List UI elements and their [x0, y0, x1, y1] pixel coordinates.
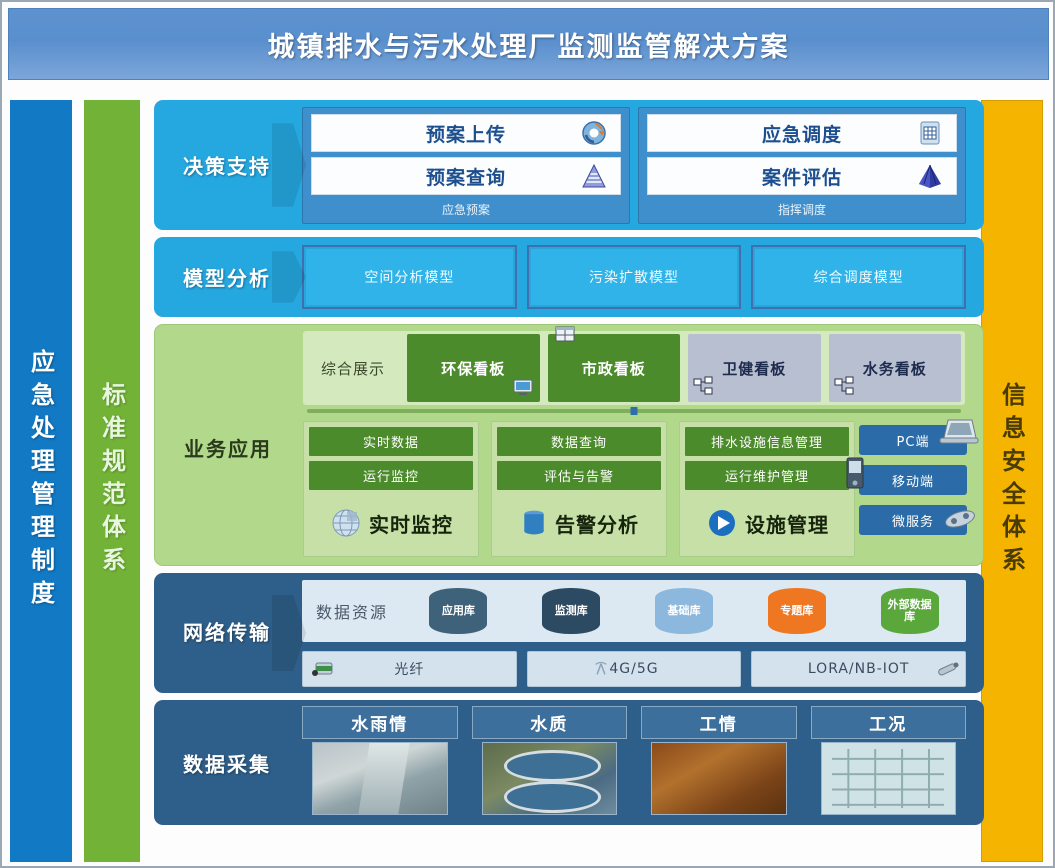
sedimentation-tank-photo [482, 742, 618, 815]
side-column-standards: 标准规范体系 [84, 100, 140, 862]
decision-panel-emergency-plan: 预案上传 预案查询 [302, 107, 630, 224]
scada-diagram-photo [821, 742, 957, 815]
transport-lora-nbiot-label: LORA/NB-IOT [808, 661, 910, 677]
device-mobile[interactable]: 移动端 [859, 465, 967, 495]
model-box-spatial[interactable]: 空间分析模型 [302, 245, 517, 309]
business-big-alarm-analysis[interactable]: 告警分析 [497, 495, 661, 551]
decision-item-plan-query[interactable]: 预案查询 [311, 157, 621, 195]
pipeline-trench-photo [651, 742, 787, 815]
data-card-water-quality[interactable]: 水质 [472, 706, 628, 819]
model-box-pollution-diffusion[interactable]: 污染扩散模型 [527, 245, 742, 309]
business-device-list: PC端 移动端 [859, 425, 967, 535]
layer-decision-support: 决策支持 预案上传 [154, 100, 984, 230]
business-column-alarm: 数据查询 评估与告警 告警分析 [491, 421, 667, 557]
business-chip-evaluation-alarm[interactable]: 评估与告警 [497, 461, 661, 490]
data-card-rainfall[interactable]: 水雨情 [302, 706, 458, 819]
data-card-conditions[interactable]: 工况 [811, 706, 967, 819]
data-card-works[interactable]: 工情 [641, 706, 797, 819]
river-channel-photo [312, 742, 448, 815]
model-box-integrated-dispatch-label: 综合调度模型 [814, 267, 904, 287]
business-chip-operation-monitoring[interactable]: 运行监控 [309, 461, 473, 490]
database-application[interactable]: 应用库 [429, 588, 487, 634]
database-external[interactable]: 外部数据库 [881, 588, 939, 634]
network-node-icon [692, 376, 714, 398]
business-display-label: 综合展示 [303, 331, 403, 405]
layer-data-collection: 数据采集 水雨情 水质 工情 工况 [154, 700, 984, 825]
database-monitoring[interactable]: 监测库 [542, 588, 600, 634]
database-icon [519, 506, 549, 540]
device-pc-label: PC端 [897, 431, 930, 450]
business-divider [307, 409, 961, 413]
model-box-pollution-diffusion-label: 污染扩散模型 [589, 267, 679, 287]
database-basic-label: 基础库 [655, 588, 713, 634]
decision-item-case-evaluation[interactable]: 案件评估 [647, 157, 957, 195]
database-thematic[interactable]: 专题库 [768, 588, 826, 634]
board-water-affairs-label: 水务看板 [863, 358, 927, 379]
database-monitoring-label: 监测库 [542, 588, 600, 634]
decision-item-plan-query-label: 预案查询 [426, 163, 506, 190]
layer-model-title: 模型分析 [168, 263, 286, 292]
pyramid-light-icon [580, 162, 608, 190]
page-title: 城镇排水与污水处理厂监测监管解决方案 [268, 25, 790, 64]
decision-item-case-evaluation-label: 案件评估 [762, 163, 842, 190]
microservice-icon [943, 505, 977, 533]
play-circle-icon [705, 506, 739, 540]
transport-lora-nbiot[interactable]: LORA/NB-IOT [751, 651, 966, 687]
diagram-title-bar: 城镇排水与污水处理厂监测监管解决方案 [8, 8, 1049, 80]
transport-fiber-label: 光纤 [394, 659, 424, 679]
business-big-alarm-analysis-label: 告警分析 [555, 509, 639, 538]
transport-row: 光纤 4G/5G LORA/NB-IOT [302, 651, 966, 687]
business-big-facility-management-label: 设施管理 [745, 509, 829, 538]
layer-model-analysis: 模型分析 空间分析模型 污染扩散模型 综合调度模型 [154, 237, 984, 317]
board-municipal-label: 市政看板 [582, 358, 646, 379]
data-card-water-quality-label: 水质 [472, 706, 628, 739]
data-card-works-label: 工情 [641, 706, 797, 739]
laptop-icon [939, 416, 979, 448]
board-municipal[interactable]: 市政看板 [548, 334, 681, 402]
grid-table-icon [916, 119, 944, 147]
transport-fiber[interactable]: 光纤 [302, 651, 517, 687]
antenna-icon [591, 660, 617, 678]
monitor-icon [512, 376, 534, 398]
recycle-circle-icon [580, 119, 608, 147]
window-icon [554, 324, 576, 346]
layer-stack: 决策支持 预案上传 [154, 100, 984, 832]
mobile-phone-icon [843, 456, 867, 490]
device-mobile-label: 移动端 [892, 471, 934, 490]
side-column-information-security: 信息安全体系 [981, 100, 1043, 862]
business-chip-operation-maintenance[interactable]: 运行维护管理 [685, 461, 849, 490]
decision-item-emergency-dispatch-label: 应急调度 [762, 120, 842, 147]
data-card-conditions-label: 工况 [811, 706, 967, 739]
layer-network-title: 网络传输 [168, 617, 286, 646]
decision-item-emergency-dispatch[interactable]: 应急调度 [647, 114, 957, 152]
transport-mobile-network[interactable]: 4G/5G [527, 651, 742, 687]
business-big-facility-management[interactable]: 设施管理 [685, 495, 849, 551]
layer-business-application: 业务应用 综合展示 环保看板 市政看板 [154, 324, 984, 566]
board-environment[interactable]: 环保看板 [407, 334, 540, 402]
database-external-label: 外部数据库 [881, 588, 939, 634]
board-water-affairs[interactable]: 水务看板 [829, 334, 962, 402]
board-health-label: 卫健看板 [722, 358, 786, 379]
decision-panel-emergency-plan-sub: 应急预案 [311, 200, 621, 221]
layer-data-title: 数据采集 [168, 748, 286, 777]
database-basic[interactable]: 基础库 [655, 588, 713, 634]
layer-decision-title: 决策支持 [168, 151, 286, 180]
database-application-label: 应用库 [429, 588, 487, 634]
board-health[interactable]: 卫健看板 [688, 334, 821, 402]
data-resource-row: 数据资源 应用库 监测库 基础库 [302, 580, 966, 642]
model-box-integrated-dispatch[interactable]: 综合调度模型 [751, 245, 966, 309]
pyramid-dark-icon [916, 162, 944, 190]
business-column-monitoring: 实时数据 运行监控 实时监控 [303, 421, 479, 557]
business-chip-drainage-facility-info[interactable]: 排水设施信息管理 [685, 427, 849, 456]
sensor-icon [935, 660, 961, 678]
network-node-icon [833, 376, 855, 398]
business-chip-data-query[interactable]: 数据查询 [497, 427, 661, 456]
side-column-security-label: 信息安全体系 [995, 382, 1030, 580]
business-chip-realtime-data[interactable]: 实时数据 [309, 427, 473, 456]
data-card-rainfall-label: 水雨情 [302, 706, 458, 739]
business-big-realtime-monitoring-label: 实时监控 [369, 509, 453, 538]
decision-item-plan-upload[interactable]: 预案上传 [311, 114, 621, 152]
fiber-cable-icon [311, 660, 337, 678]
side-column-emergency-management: 应急处理管理制度 [10, 100, 72, 862]
device-pc[interactable]: PC端 [859, 425, 967, 455]
device-microservice[interactable]: 微服务 [859, 505, 967, 535]
database-thematic-label: 专题库 [768, 588, 826, 634]
decision-panel-command-dispatch-sub: 指挥调度 [647, 200, 957, 221]
decision-panel-command-dispatch: 应急调度 案件评估 [638, 107, 966, 224]
side-column-standards-label: 标准规范体系 [95, 382, 130, 580]
globe-icon [329, 506, 363, 540]
model-box-spatial-label: 空间分析模型 [364, 267, 454, 287]
side-column-emergency-label: 应急处理管理制度 [24, 349, 59, 613]
decision-item-plan-upload-label: 预案上传 [426, 120, 506, 147]
data-resource-label: 数据资源 [302, 599, 402, 623]
business-columns: 实时数据 运行监控 实时监控 [303, 421, 855, 557]
board-environment-label: 环保看板 [441, 358, 505, 379]
layer-business-title: 业务应用 [169, 433, 287, 462]
layer-network-transport: 网络传输 数据资源 应用库 监测库 基础库 [154, 573, 984, 693]
business-dashboard-row: 综合展示 环保看板 市政看板 [303, 331, 965, 405]
business-column-facility: 排水设施信息管理 运行维护管理 设施管理 [679, 421, 855, 557]
diagram-frame: 城镇排水与污水处理厂监测监管解决方案 应急处理管理制度 标准规范体系 信息安全体… [0, 0, 1055, 868]
business-big-realtime-monitoring[interactable]: 实时监控 [309, 495, 473, 551]
device-microservice-label: 微服务 [892, 511, 934, 530]
